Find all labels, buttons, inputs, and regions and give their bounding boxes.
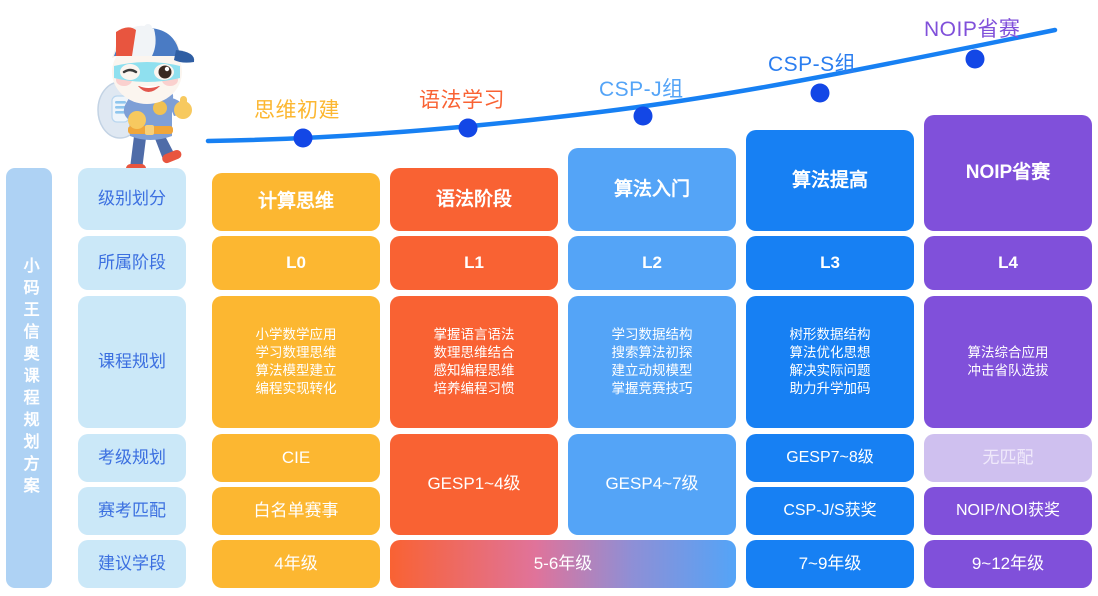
sidebar-title: 小码王信奥课程规划方案 [6, 168, 52, 588]
col-plan-l0: 小学数学应用 学习数理思维 算法模型建立 编程实现转化 [212, 296, 380, 428]
col-exam-l4: 无匹配 [924, 434, 1092, 482]
col-grade-l3: 7~9年级 [746, 540, 914, 588]
course-plan-grid: 小码王信奥课程规划方案 级别划分 所属阶段 课程规划 考级规划 赛考匹配 建议学… [0, 0, 1098, 596]
col-grade-l1-l2-merged: 5-6年级 [390, 540, 736, 588]
col-grade-l4: 9~12年级 [924, 540, 1092, 588]
col-contest-l4: NOIP/NOI获奖 [924, 487, 1092, 535]
row-label-exam-plan: 考级规划 [78, 434, 186, 482]
col-level-l1: L1 [390, 236, 558, 290]
col-exam-l0: CIE [212, 434, 380, 482]
col-plan-l4: 算法综合应用 冲击省队选拔 [924, 296, 1092, 428]
row-label-course-plan: 课程规划 [78, 296, 186, 428]
col-exam-l3: GESP7~8级 [746, 434, 914, 482]
col-header-l1[interactable]: 语法阶段 [390, 168, 558, 231]
col-plan-l3: 树形数据结构 算法优化思想 解决实际问题 助力升学加码 [746, 296, 914, 428]
row-label-stage: 所属阶段 [78, 236, 186, 290]
col-level-l2: L2 [568, 236, 736, 290]
col-level-l4: L4 [924, 236, 1092, 290]
col-header-l2[interactable]: 算法入门 [568, 148, 736, 231]
col-plan-l1: 掌握语言语法 数理思维结合 感知编程思维 培养编程习惯 [390, 296, 558, 428]
col-header-l3[interactable]: 算法提高 [746, 130, 914, 231]
col-level-l3: L3 [746, 236, 914, 290]
col-header-l4[interactable]: NOIP省赛 [924, 115, 1092, 231]
col-exam-contest-l2-merged: GESP4~7级 [568, 434, 736, 535]
col-header-l0[interactable]: 计算思维 [212, 173, 380, 231]
col-level-l0: L0 [212, 236, 380, 290]
col-plan-l2: 学习数据结构 搜索算法初探 建立动规模型 掌握竞赛技巧 [568, 296, 736, 428]
row-label-level-division: 级别划分 [78, 168, 186, 230]
col-exam-contest-l1-merged: GESP1~4级 [390, 434, 558, 535]
col-grade-l0: 4年级 [212, 540, 380, 588]
row-label-contest-match: 赛考匹配 [78, 487, 186, 535]
col-contest-l0: 白名单赛事 [212, 487, 380, 535]
row-label-suggested-grade: 建议学段 [78, 540, 186, 588]
col-contest-l3: CSP-J/S获奖 [746, 487, 914, 535]
